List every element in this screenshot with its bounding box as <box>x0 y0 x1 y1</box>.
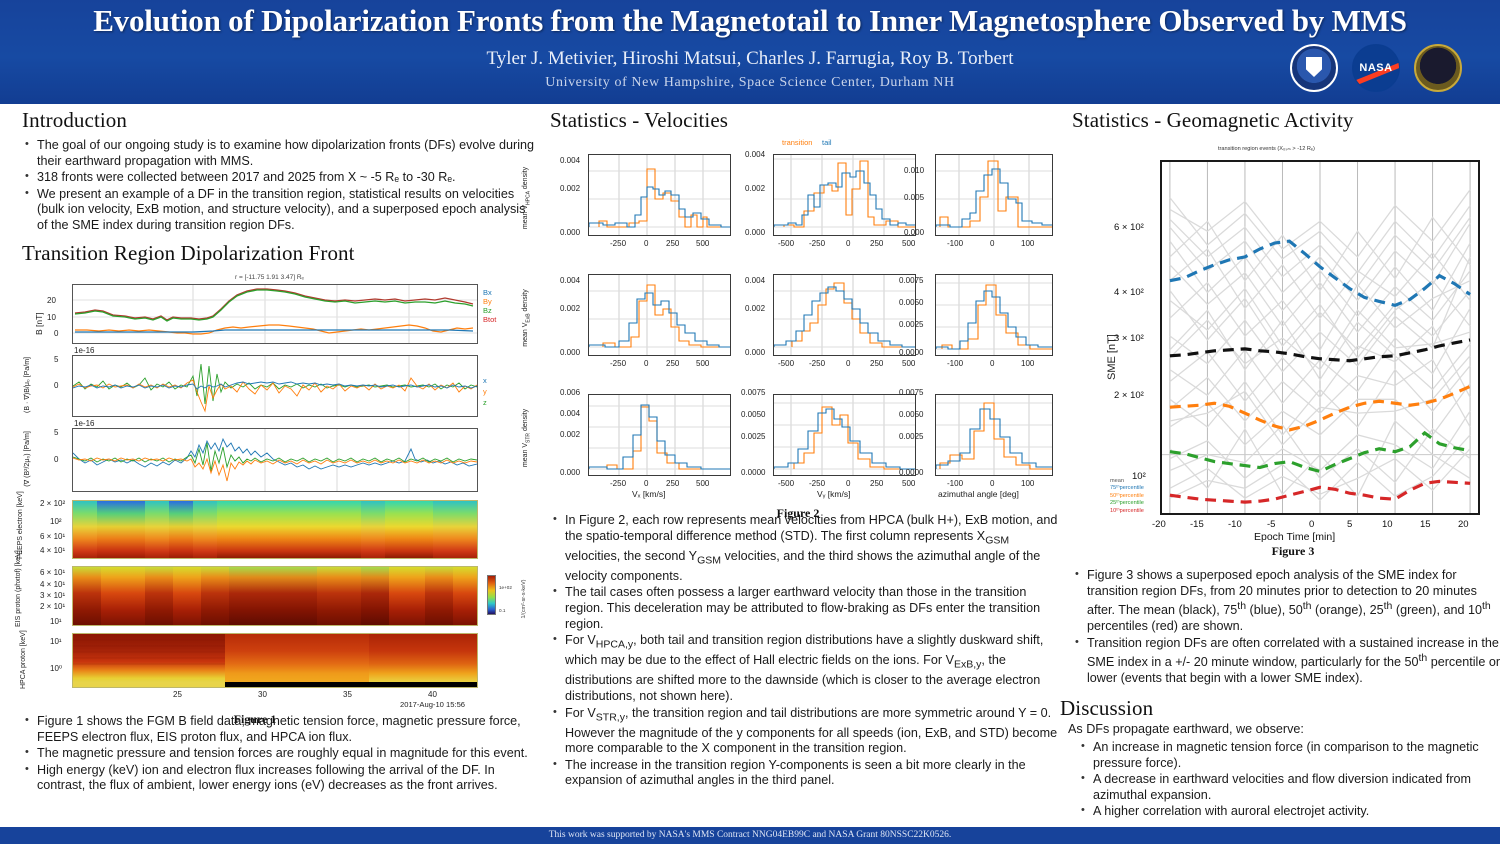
fig2-xtick: 0 <box>846 359 850 368</box>
mms-mission-logo <box>1414 44 1462 92</box>
fig1-ytick: 10¹ <box>50 617 62 626</box>
fig2-ytick: 0.002 <box>560 184 580 193</box>
fig1-ytick: 6 × 10¹ <box>40 532 65 541</box>
fig2-hist-r1c2 <box>774 155 915 235</box>
fig1-panel-tension: 5 0 (B · ∇)B/μ₀ [Pa/m] x y z <box>72 355 478 417</box>
fig1-bullets: Figure 1 shows the FGM B field data, mag… <box>24 714 544 795</box>
fig3-xtick: -5 <box>1267 519 1275 530</box>
fig1-ytick: 5 <box>54 428 58 437</box>
list-item: For VSTR,y, the transition region and ta… <box>552 706 1062 757</box>
fig3-xtick: 0 <box>1309 519 1314 530</box>
nasa-logo: NASA <box>1352 44 1400 92</box>
fig3-xtick: 10 <box>1382 519 1393 530</box>
fig1-legend-y: y <box>483 387 487 396</box>
page-title: Evolution of Dipolarization Fronts from … <box>0 3 1500 39</box>
fig2-ytick: 0.000 <box>560 228 580 237</box>
fig3-plot-area <box>1160 160 1480 515</box>
fig2-hist-r3c1 <box>589 395 730 475</box>
fig1-ylabel-tension: (B · ∇)B/μ₀ [Pa/m] <box>23 354 31 416</box>
fig2-row1-ylabel: mean VHPCA density <box>522 163 531 233</box>
list-item: The increase in the transition region Y-… <box>552 758 1062 789</box>
fig1-legend-by: By <box>483 297 492 306</box>
fig2-xtick: -500 <box>778 239 794 248</box>
unh-logo <box>1290 44 1338 92</box>
fig1-xlabel: 2017-Aug-10 15:56 <box>400 700 465 709</box>
fig1-ylabel-hpca: HPCA proton [keV] <box>20 634 27 689</box>
right-column: Statistics - Geomagnetic Activity transi… <box>1060 108 1498 138</box>
fig2-ytick: 0.002 <box>560 304 580 313</box>
fig2-xtick: 250 <box>666 359 679 368</box>
fig2-xtick: 100 <box>1021 239 1034 248</box>
fig1-ytick: 10⁰ <box>50 664 62 673</box>
discussion-heading: Discussion <box>1060 696 1153 721</box>
fig2-ytick: 0.0050 <box>741 410 765 419</box>
fig3-ylabel: SME [nT] <box>1106 334 1118 380</box>
fig3-ytick: 6 × 10² <box>1114 222 1144 233</box>
fig2-ytick: 0.004 <box>745 276 765 285</box>
fig2-xtick: 250 <box>666 239 679 248</box>
fig1-ylabel-eis: EIS proton (phxtof) [keV] <box>15 567 22 627</box>
fig3-ytick: 3 × 10² <box>1114 333 1144 344</box>
fig2-legend-transition: transition <box>782 138 812 147</box>
fig1-ytick: 4 × 10¹ <box>40 580 65 589</box>
fig2-xtick: 0 <box>990 479 994 488</box>
fig3-xtick: -10 <box>1228 519 1242 530</box>
list-item: Transition region DFs are often correlat… <box>1074 636 1500 687</box>
fig2-xtick: 250 <box>870 359 883 368</box>
fig2-ytick: 0.000 <box>745 228 765 237</box>
fig1-panel-eis: 6 × 10¹ 4 × 10¹ 3 × 10¹ 2 × 10¹ 10¹ EIS … <box>72 566 478 626</box>
fig2-ytick: 0.006 <box>560 388 580 397</box>
fig2-xtick: -100 <box>947 479 963 488</box>
figure-2: transition tail mean VHPCA density mean … <box>538 138 1058 503</box>
fig2-xtick: 0 <box>846 479 850 488</box>
fig2-ytick: 0.004 <box>560 276 580 285</box>
fig1-heading: Transition Region Dipolarization Front <box>22 241 538 266</box>
velocities-bullets: In Figure 2, each row represents mean ve… <box>552 513 1062 790</box>
fig2-ytick: 0.005 <box>904 193 924 202</box>
fig1-hpca-spectrogram <box>73 634 477 687</box>
list-item: Figure 1 shows the FGM B field data, mag… <box>24 714 544 745</box>
fig1-ytick: 6 × 10¹ <box>40 568 65 577</box>
fig2-panel-r2c1 <box>588 274 731 356</box>
fig2-hist-r1c3 <box>936 155 1052 235</box>
fig2-xtick: 500 <box>696 359 709 368</box>
fig1-ytick: 10 <box>47 313 56 322</box>
fig2-ytick: 0.000 <box>904 228 924 237</box>
fig1-colorbar-max: 1e+02 <box>499 585 512 590</box>
fig3-legend: mean 75ᵗʰpercentile 50ᵗʰpercentile 25ᵗʰp… <box>1110 478 1144 515</box>
fig2-xtick: 250 <box>870 239 883 248</box>
list-item: A higher correlation with auroral electr… <box>1080 804 1500 820</box>
fig2-xtick: -250 <box>809 359 825 368</box>
fig1-xtick: 40 <box>428 690 437 699</box>
fig1-ytick: 10¹ <box>50 637 62 646</box>
fig3-title: transition region events (X₀ₛₘ > -12 Rₑ) <box>1218 146 1315 152</box>
fig2-ytick: 0.0050 <box>899 410 923 419</box>
fig3-xtick: 15 <box>1420 519 1431 530</box>
fig2-hist-r3c3 <box>936 395 1052 475</box>
fig2-xtick: -500 <box>778 359 794 368</box>
list-item: Figure 3 shows a superposed epoch analys… <box>1074 568 1500 635</box>
fig2-panel-r3c2 <box>773 394 916 476</box>
list-item: We present an example of a DF in the tra… <box>24 187 538 234</box>
fig1-pressure-traces <box>73 429 477 491</box>
fig1-ytick: 2 × 10¹ <box>40 602 65 611</box>
fig2-xtick: 0 <box>644 479 648 488</box>
fig1-ytick: 3 × 10¹ <box>40 591 65 600</box>
fig2-xtick: -250 <box>610 239 626 248</box>
fig2-ytick: 0.000 <box>560 468 580 477</box>
fig1-colorbar-label: 1/(cm²-sr-s-keV) <box>521 571 527 627</box>
fig1-ytick: 0 <box>54 329 58 338</box>
fig2-panel-r1c2 <box>773 154 916 236</box>
fig2-xtick: -250 <box>610 479 626 488</box>
fig2-xtick: 500 <box>902 359 915 368</box>
figure-3: transition region events (X₀ₛₘ > -12 Rₑ) <box>1108 140 1498 560</box>
geomagnetic-heading: Statistics - Geomagnetic Activity <box>1072 108 1498 133</box>
fig2-ytick: 0.0025 <box>899 320 923 329</box>
fig1-legend-bz: Bz <box>483 306 492 315</box>
author-list: Tyler J. Metivier, Hiroshi Matsui, Charl… <box>0 48 1500 70</box>
fig2-ytick: 0.0075 <box>899 276 923 285</box>
fig1-bfield-traces <box>73 285 477 343</box>
fig1-colorbar-min: 0.1 <box>499 608 505 613</box>
introduction-heading: Introduction <box>22 108 538 133</box>
fig2-xlabel-col3: azimuthal angle [deg] <box>938 489 1019 499</box>
fig3-xtick: -20 <box>1152 519 1166 530</box>
list-item: The goal of our ongoing study is to exam… <box>24 138 538 169</box>
fig2-panel-r2c2 <box>773 274 916 356</box>
fig1-legend-btot: Btot <box>483 315 496 324</box>
fig2-ytick: 0.0000 <box>741 468 765 477</box>
fig1-ytick: 4 × 10¹ <box>40 546 65 555</box>
fig2-hist-r3c2 <box>774 395 915 475</box>
fig2-panel-r3c3 <box>935 394 1053 476</box>
fig2-xtick: -250 <box>809 479 825 488</box>
fig2-ytick: 0.004 <box>560 156 580 165</box>
fig2-xlabel-col2: Vᵧ [km/s] <box>817 489 850 499</box>
fig1-position-title: r = [-11.75 1.91 3.47] Rₑ <box>235 274 304 281</box>
list-item: The magnetic pressure and tension forces… <box>24 746 544 762</box>
fig2-ytick: 0.010 <box>904 166 924 175</box>
fig2-xtick: -250 <box>809 239 825 248</box>
list-item: An increase in magnetic tension force (i… <box>1080 740 1500 771</box>
fig2-xtick: 0 <box>644 239 648 248</box>
list-item: 318 fronts were collected between 2017 a… <box>24 170 538 186</box>
fig2-ytick: 0.0025 <box>741 432 765 441</box>
fig1-xtick: 35 <box>343 690 352 699</box>
fig2-xtick: 500 <box>696 479 709 488</box>
fig1-ytick: 20 <box>47 296 56 305</box>
fig2-row2-ylabel: mean VExB density <box>522 283 531 353</box>
fig2-hist-r2c3 <box>936 275 1052 355</box>
fig2-ytick: 0.002 <box>745 304 765 313</box>
affiliation: University of New Hampshire, Space Scien… <box>0 75 1500 91</box>
fig1-legend-x: x <box>483 376 487 385</box>
fig3-legend-p25: 25ᵗʰpercentile <box>1110 500 1144 507</box>
fig2-hist-r1c1 <box>589 155 730 235</box>
figure-3-caption: Figure 3 <box>1238 544 1348 559</box>
fig2-ytick: 0.004 <box>745 150 765 159</box>
list-item: A decrease in earthward velocities and f… <box>1080 772 1500 803</box>
fig2-panel-r3c1 <box>588 394 731 476</box>
nasa-logo-text: NASA <box>1353 62 1399 74</box>
list-item: For VHPCA,y, both tail and transition re… <box>552 633 1062 704</box>
fig2-ytick: 0.0000 <box>899 348 923 357</box>
fig2-panel-r1c1 <box>588 154 731 236</box>
fig3-xlabel: Epoch Time [min] <box>1254 531 1335 543</box>
fig1-exponent: 1e-16 <box>74 419 94 428</box>
fig3-ytick: 2 × 10² <box>1114 390 1144 401</box>
velocities-heading: Statistics - Velocities <box>550 108 1060 133</box>
fig1-panel-pressure: 5 0 (∇ (B²/2μ₀) [Pa/m] <box>72 428 478 492</box>
fig2-ytick: 0.0025 <box>899 432 923 441</box>
fig3-ytick: 4 × 10² <box>1114 287 1144 298</box>
discussion-bullets: An increase in magnetic tension force (i… <box>1080 740 1500 821</box>
fig2-panel-r1c3 <box>935 154 1053 236</box>
footer-acknowledgement: This work was supported by NASA's MMS Co… <box>0 827 1500 844</box>
poster-header-banner: Evolution of Dipolarization Fronts from … <box>0 0 1500 104</box>
fig1-panel-hpca: 10¹ 10⁰ HPCA proton [keV] <box>72 633 478 688</box>
fig2-legend-tail: tail <box>822 138 832 147</box>
fig2-xtick: 500 <box>696 239 709 248</box>
middle-column: Statistics - Velocities transition tail … <box>538 108 1060 138</box>
fig1-colorbar <box>487 575 496 615</box>
fig2-ytick: 0.002 <box>745 184 765 193</box>
introduction-bullets: The goal of our ongoing study is to exam… <box>24 138 538 234</box>
fig3-sme-traces <box>1162 162 1478 513</box>
fig2-xlabel-col1: Vₓ [km/s] <box>632 489 666 499</box>
fig2-xtick: 0 <box>990 239 994 248</box>
fig2-ytick: 0.002 <box>560 430 580 439</box>
fig2-ytick: 0.000 <box>560 348 580 357</box>
fig1-panel-feeps: 2 × 10² 10² 6 × 10¹ 4 × 10¹ FEEPS electr… <box>72 500 478 559</box>
fig2-panel-r2c3 <box>935 274 1053 356</box>
fig2-ytick: 0.0075 <box>899 388 923 397</box>
fig2-hist-r2c2 <box>774 275 915 355</box>
fig1-tension-traces <box>73 356 477 416</box>
list-item: The tail cases often possess a larger ea… <box>552 585 1062 632</box>
list-item: In Figure 2, each row represents mean ve… <box>552 513 1062 584</box>
fig2-ytick: 0.000 <box>745 348 765 357</box>
fig3-legend-p10: 10ᵗʰpercentile <box>1110 508 1144 515</box>
fig2-hist-r2c1 <box>589 275 730 355</box>
fig1-ytick: 10² <box>50 517 62 526</box>
fig2-xtick: -100 <box>947 359 963 368</box>
fig2-xtick: 100 <box>1021 359 1034 368</box>
fig2-ytick: 0.004 <box>560 409 580 418</box>
fig1-exponent: 1e-16 <box>74 346 94 355</box>
fig2-xtick: 250 <box>870 479 883 488</box>
fig1-eis-spectrogram <box>73 567 477 625</box>
fig1-xtick: 30 <box>258 690 267 699</box>
fig1-ylabel-pressure: (∇ (B²/2μ₀) [Pa/m] <box>23 427 31 491</box>
fig1-xtick: 25 <box>173 690 182 699</box>
fig2-ytick: 0.0075 <box>741 388 765 397</box>
fig1-legend-bx: Bx <box>483 288 492 297</box>
fig2-ytick: 0.0000 <box>899 468 923 477</box>
fig2-xtick: -250 <box>610 359 626 368</box>
footer-text: This work was supported by NASA's MMS Co… <box>549 830 952 840</box>
fig1-ytick: 0 <box>54 381 58 390</box>
fig2-row3-ylabel: mean VSTR density <box>522 403 531 473</box>
fig2-xtick: 0 <box>990 359 994 368</box>
fig2-xtick: 0 <box>644 359 648 368</box>
fig3-xtick: 5 <box>1347 519 1352 530</box>
discussion-lead: As DFs propagate earthward, we observe: <box>1068 722 1304 738</box>
fig1-ytick: 0 <box>54 455 58 464</box>
fig1-ytick: 2 × 10² <box>40 499 65 508</box>
fig3-xtick: 20 <box>1458 519 1469 530</box>
fig2-xtick: 500 <box>902 479 915 488</box>
fig2-xtick: 250 <box>666 479 679 488</box>
fig2-xtick: -500 <box>778 479 794 488</box>
fig1-feeps-spectrogram <box>73 501 477 558</box>
fig3-legend-p75: 75ᵗʰpercentile <box>1110 485 1144 492</box>
fig2-xtick: 100 <box>1021 479 1034 488</box>
fig1-legend-z: z <box>483 398 487 407</box>
fig2-xtick: -100 <box>947 239 963 248</box>
fig1-ytick: 5 <box>54 355 58 364</box>
left-column: Introduction The goal of our ongoing stu… <box>10 108 538 271</box>
fig2-xtick: 0 <box>846 239 850 248</box>
logo-group: NASA <box>1290 44 1462 92</box>
fig1-panel-bfield: 20 10 0 B [nT] Bx By Bz Btot <box>72 284 478 344</box>
geomagnetic-bullets: Figure 3 shows a superposed epoch analys… <box>1074 568 1500 688</box>
fig3-xtick: -15 <box>1190 519 1204 530</box>
fig1-ylabel-bfield: B [nT] <box>34 312 44 335</box>
fig2-ytick: 0.0050 <box>899 298 923 307</box>
fig2-xtick: 500 <box>902 239 915 248</box>
list-item: High energy (keV) ion and electron flux … <box>24 763 544 794</box>
